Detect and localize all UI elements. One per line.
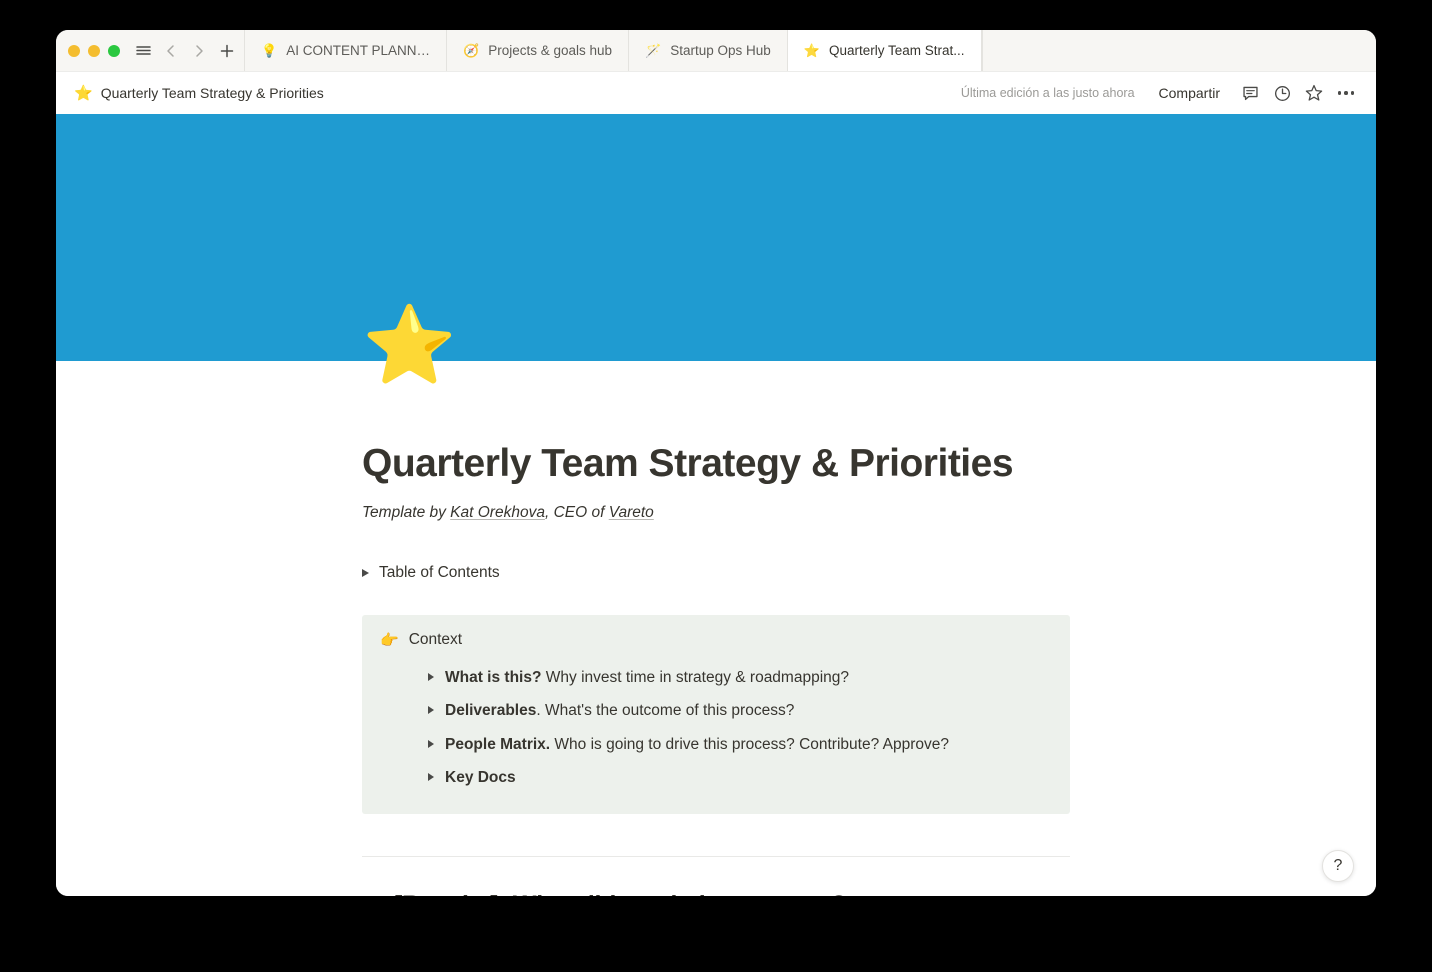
maximize-dot[interactable] bbox=[108, 45, 120, 57]
tab-startup-ops-hub[interactable]: 🪄 Startup Ops Hub bbox=[628, 30, 787, 71]
compass-icon: 🧭 bbox=[463, 44, 479, 57]
list-item-bold: Deliverables bbox=[445, 702, 536, 719]
byline-prefix: Template by bbox=[362, 504, 450, 521]
chevron-left-icon[interactable] bbox=[158, 38, 184, 64]
tab-strip: 💡 AI CONTENT PLANNI... 🧭 Projects & goal… bbox=[56, 30, 1376, 72]
callout-title: Context bbox=[409, 631, 462, 649]
browser-window: 💡 AI CONTENT PLANNI... 🧭 Projects & goal… bbox=[56, 30, 1376, 896]
callout-toggle-list: What is this? Why invest time in strateg… bbox=[380, 661, 1052, 794]
list-item-rest: Who is going to drive this process? Cont… bbox=[550, 736, 949, 753]
chevron-right-icon[interactable] bbox=[186, 38, 212, 64]
chevron-right-icon[interactable] bbox=[428, 673, 434, 681]
section-divider bbox=[362, 856, 1070, 857]
list-item[interactable]: Deliverables. What's the outcome of this… bbox=[380, 694, 1052, 727]
page-body: ⭐ Quarterly Team Strategy & Priorities T… bbox=[56, 361, 1376, 896]
star-icon: ⭐ bbox=[804, 44, 820, 57]
tab-label: Projects & goals hub bbox=[488, 43, 612, 58]
tab-label: Quarterly Team Strat... bbox=[829, 43, 965, 58]
byline-author-link[interactable]: Kat Orekhova bbox=[450, 504, 545, 521]
header-actions: Última edición a las justo ahora Compart… bbox=[961, 79, 1360, 107]
tab-strip-empty-area bbox=[982, 30, 1376, 71]
navigation-buttons bbox=[130, 30, 244, 71]
tab-label: Startup Ops Hub bbox=[670, 43, 771, 58]
tab-list: 💡 AI CONTENT PLANNI... 🧭 Projects & goal… bbox=[244, 30, 1376, 71]
close-dot[interactable] bbox=[68, 45, 80, 57]
window-controls bbox=[56, 30, 130, 71]
list-item-bold: What is this? bbox=[445, 669, 541, 686]
table-of-contents-label: Table of Contents bbox=[379, 564, 500, 582]
tab-projects-goals-hub[interactable]: 🧭 Projects & goals hub bbox=[446, 30, 628, 71]
byline: Template by Kat Orekhova, CEO of Vareto bbox=[362, 504, 1070, 522]
help-button[interactable]: ? bbox=[1322, 850, 1354, 882]
breadcrumb[interactable]: ⭐ Quarterly Team Strategy & Priorities bbox=[74, 85, 324, 101]
section-heading-results[interactable]: [Results]: What did we do last quarter? bbox=[362, 891, 1070, 896]
section-heading-label: [Results]: What did we do last quarter? bbox=[394, 891, 846, 896]
minimize-dot[interactable] bbox=[88, 45, 100, 57]
breadcrumb-title: Quarterly Team Strategy & Priorities bbox=[101, 85, 324, 101]
hamburger-icon[interactable] bbox=[130, 38, 156, 64]
list-item-bold: People Matrix. bbox=[445, 736, 550, 753]
chevron-right-icon[interactable] bbox=[428, 740, 434, 748]
last-edited-label: Última edición a las justo ahora bbox=[961, 86, 1135, 100]
list-item[interactable]: People Matrix. Who is going to drive thi… bbox=[380, 728, 1052, 761]
favorite-star-icon[interactable] bbox=[1300, 79, 1328, 107]
chevron-right-icon[interactable] bbox=[428, 706, 434, 714]
list-item[interactable]: What is this? Why invest time in strateg… bbox=[380, 661, 1052, 694]
magic-wand-icon: 🪄 bbox=[645, 44, 661, 57]
page-star-icon: ⭐ bbox=[74, 86, 93, 101]
byline-middle: , CEO of bbox=[545, 504, 609, 521]
history-clock-icon[interactable] bbox=[1268, 79, 1296, 107]
list-item-rest: Why invest time in strategy & roadmappin… bbox=[541, 669, 849, 686]
page-header-bar: ⭐ Quarterly Team Strategy & Priorities Ú… bbox=[56, 72, 1376, 114]
pointing-hand-icon: 👉 bbox=[380, 631, 399, 651]
callout-header: 👉 Context bbox=[380, 631, 1052, 651]
tab-ai-content-planning[interactable]: 💡 AI CONTENT PLANNI... bbox=[244, 30, 446, 71]
content-column: ⭐ Quarterly Team Strategy & Priorities T… bbox=[362, 361, 1070, 896]
comment-icon[interactable] bbox=[1236, 79, 1264, 107]
byline-company-link[interactable]: Vareto bbox=[609, 504, 654, 521]
document-page: ⭐ Quarterly Team Strategy & Priorities T… bbox=[56, 114, 1376, 896]
chevron-right-icon[interactable] bbox=[362, 569, 369, 577]
page-icon-star-emoji[interactable]: ⭐ bbox=[362, 308, 457, 384]
page-title[interactable]: Quarterly Team Strategy & Priorities bbox=[362, 361, 1070, 488]
list-item-rest: . What's the outcome of this process? bbox=[536, 702, 794, 719]
table-of-contents-toggle[interactable]: Table of Contents bbox=[362, 564, 1070, 582]
tab-quarterly-team-strategy[interactable]: ⭐ Quarterly Team Strat... bbox=[787, 30, 982, 71]
tab-label: AI CONTENT PLANNI... bbox=[286, 43, 430, 58]
cover-image[interactable] bbox=[56, 114, 1376, 361]
list-item-bold: Key Docs bbox=[445, 769, 516, 786]
list-item[interactable]: Key Docs bbox=[380, 761, 1052, 794]
screenshot-root: 💡 AI CONTENT PLANNI... 🧭 Projects & goal… bbox=[0, 0, 1432, 972]
chevron-right-icon[interactable] bbox=[428, 773, 434, 781]
more-options-icon[interactable] bbox=[1332, 79, 1360, 107]
share-button[interactable]: Compartir bbox=[1151, 81, 1228, 105]
context-callout: 👉 Context What is this? Why invest time … bbox=[362, 615, 1070, 814]
plus-icon[interactable] bbox=[214, 38, 240, 64]
lightbulb-icon: 💡 bbox=[261, 44, 277, 57]
